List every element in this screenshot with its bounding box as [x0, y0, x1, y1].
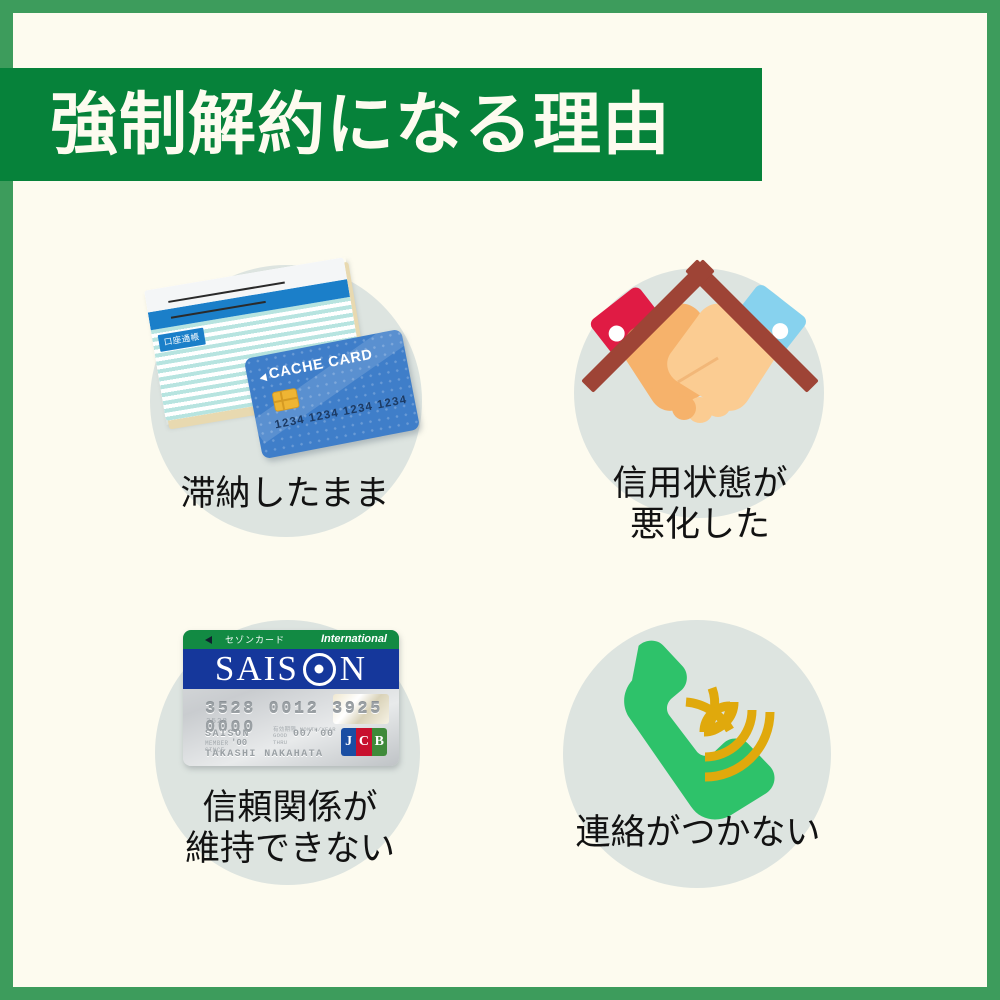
ringing-phone-icon — [558, 612, 838, 827]
handshake-svg — [560, 258, 840, 493]
phone-svg — [558, 612, 838, 827]
item-caption: 連絡がつかない — [558, 812, 838, 853]
saison-member-value: '00 — [231, 738, 247, 748]
item-unreachable: 連絡がつかない — [558, 612, 838, 912]
item-delinquency: 口座通帳 BANK CACHE CARD 1234 1234 1234 1234… — [140, 255, 430, 555]
item-caption: 信用状態が 悪化した — [560, 463, 840, 546]
saison-international-label: International — [321, 633, 387, 645]
saison-sub-number: 3528 — [206, 718, 228, 726]
item-caption: 信頼関係が 維持できない — [150, 787, 430, 870]
saison-logo-left: SAIS — [215, 649, 299, 689]
item-caption: 滞納したまま — [140, 473, 430, 514]
card-arrow-icon — [259, 373, 267, 382]
saison-brand-jp: セゾンカード — [225, 633, 285, 646]
broken-handshake-icon — [560, 258, 840, 493]
saison-thru-value: 00/'00 — [293, 729, 334, 740]
item-trust-lost: セゾンカード International SAIS N 3528 0012 39… — [150, 612, 430, 912]
jcb-logo-icon: J C B — [341, 728, 387, 756]
saison-logo-right: N — [340, 649, 367, 689]
play-triangle-icon — [205, 636, 212, 644]
bank-passbook-and-cash-card-icon: 口座通帳 BANK CACHE CARD 1234 1234 1234 1234 — [140, 255, 430, 485]
saison-credit-card-icon: セゾンカード International SAIS N 3528 0012 39… — [183, 630, 399, 766]
saison-logo-o-icon — [303, 653, 336, 686]
saison-logo: SAIS N — [183, 649, 399, 689]
item-credit-worsened: 信用状態が 悪化した — [560, 258, 840, 558]
page-title: 強制解約になる理由 — [50, 91, 671, 159]
infographic-canvas: 強制解約になる理由 口座通帳 BANK — [0, 0, 1000, 1000]
saison-holder-name: TAKASHI NAKAHATA — [205, 749, 323, 760]
title-banner: 強制解約になる理由 — [0, 68, 762, 181]
